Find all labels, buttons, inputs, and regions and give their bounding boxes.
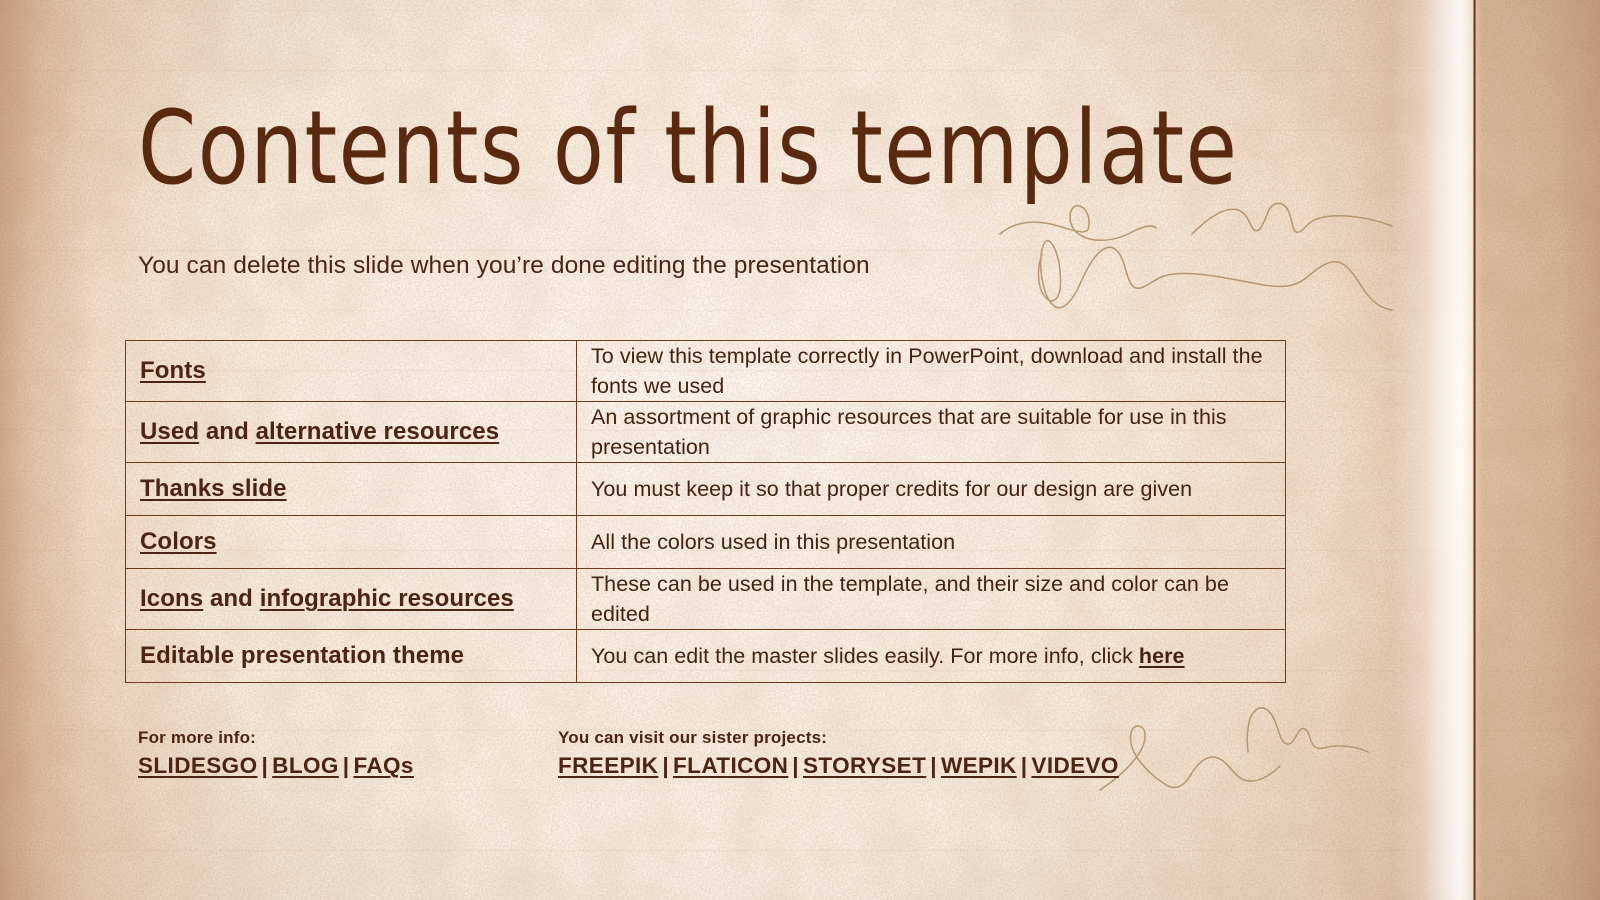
contents-link-thanks-slide[interactable]: Thanks slide (140, 474, 562, 504)
table-cell-key: Editable presentation theme (126, 630, 577, 683)
footer-left-lead: For more info: (138, 726, 414, 750)
footer-more-info: For more info: SLIDESGO|BLOG|FAQs (138, 726, 414, 781)
footer-right-lead: You can visit our sister projects: (558, 726, 1119, 750)
footer-link-flaticon[interactable]: FLATICON (673, 753, 788, 778)
table-cell-key: Used and alternative resources (126, 402, 577, 463)
table-cell-key: Thanks slide (126, 463, 577, 516)
table-cell-value: These can be used in the template, and t… (577, 569, 1286, 630)
table-cell-value: To view this template correctly in Power… (577, 341, 1286, 402)
slide-subtitle: You can delete this slide when you’re do… (138, 248, 870, 284)
contents-link-icons-and-infographic-resources[interactable]: Icons and infographic resources (140, 584, 562, 614)
footer-left-links[interactable]: SLIDESGO|BLOG|FAQs (138, 751, 414, 781)
table-value-text: To view this template correctly in Power… (591, 341, 1271, 401)
footer-sister-projects: You can visit our sister projects: FREEP… (558, 726, 1119, 781)
table-cell-value: An assortment of graphic resources that … (577, 402, 1286, 463)
table-row: Thanks slideYou must keep it so that pro… (126, 463, 1286, 516)
page-title: Contents of this template (138, 92, 1238, 205)
table-value-text: An assortment of graphic resources that … (591, 402, 1271, 462)
link-separator: | (926, 751, 941, 781)
contents-link-used-and-alternative-resources[interactable]: Used and alternative resources (140, 417, 562, 447)
contents-link-fonts[interactable]: Fonts (140, 356, 562, 386)
footer-link-slidesgo[interactable]: SLIDESGO (138, 753, 257, 778)
footer-link-wepik[interactable]: WEPIK (941, 753, 1017, 778)
footer-link-freepik[interactable]: FREEPIK (558, 753, 658, 778)
table-row: Editable presentation themeYou can edit … (126, 630, 1286, 683)
table-cell-value: You must keep it so that proper credits … (577, 463, 1286, 516)
table-row: ColorsAll the colors used in this presen… (126, 516, 1286, 569)
table-cell-key: Fonts (126, 341, 577, 402)
table-value-text: All the colors used in this presentation (591, 527, 1271, 557)
table-cell-key: Icons and infographic resources (126, 569, 577, 630)
link-separator: | (1017, 751, 1032, 781)
footer-link-storyset[interactable]: STORYSET (803, 753, 926, 778)
slide-canvas: Contents of this template You can delete… (0, 0, 1600, 900)
link-separator: | (658, 751, 673, 781)
contents-link-colors[interactable]: Colors (140, 527, 562, 557)
table-row: Icons and infographic resourcesThese can… (126, 569, 1286, 630)
footer-link-faqs[interactable]: FAQs (353, 753, 413, 778)
here-link[interactable]: here (1139, 644, 1185, 668)
link-separator: | (339, 751, 354, 781)
table-row: FontsTo view this template correctly in … (126, 341, 1286, 402)
link-separator: | (788, 751, 803, 781)
table-cell-value: You can edit the master slides easily. F… (577, 630, 1286, 683)
link-separator: | (257, 751, 272, 781)
table-value-text: You must keep it so that proper credits … (591, 474, 1271, 504)
table-cell-key: Colors (126, 516, 577, 569)
table-value-text: You can edit the master slides easily. F… (591, 641, 1271, 671)
footer-right-links[interactable]: FREEPIK|FLATICON|STORYSET|WEPIK|VIDEVO (558, 751, 1119, 781)
table-value-text: These can be used in the template, and t… (591, 569, 1271, 629)
table-cell-value: All the colors used in this presentation (577, 516, 1286, 569)
contents-table: FontsTo view this template correctly in … (125, 340, 1286, 683)
footer-link-videvo[interactable]: VIDEVO (1031, 753, 1118, 778)
contents-link-editable-presentation-theme[interactable]: Editable presentation theme (140, 641, 562, 671)
table-row: Used and alternative resourcesAn assortm… (126, 402, 1286, 463)
footer-link-blog[interactable]: BLOG (272, 753, 339, 778)
